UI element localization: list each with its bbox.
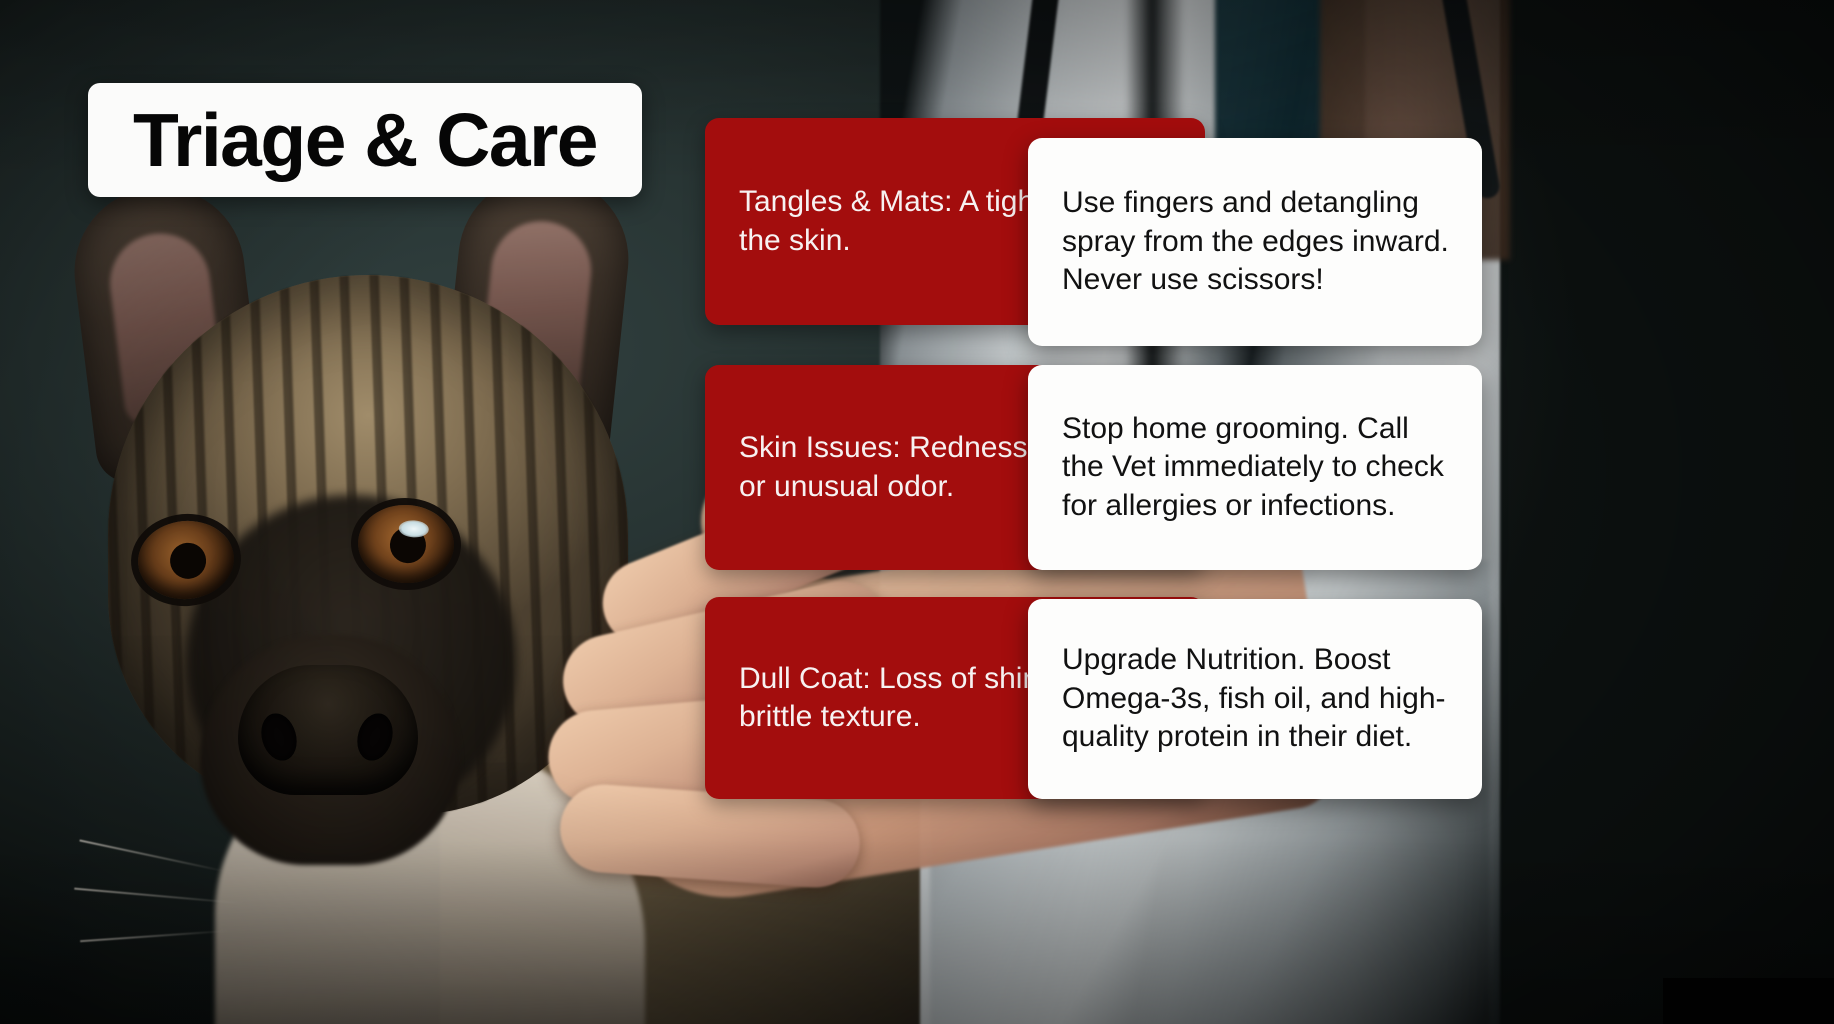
action-card[interactable]: Stop home grooming. Call the Vet immedia… — [1028, 365, 1482, 570]
action-card[interactable]: Upgrade Nutrition. Boost Omega-3s, fish … — [1028, 599, 1482, 799]
action-text: Upgrade Nutrition. Boost Omega-3s, fish … — [1028, 641, 1482, 756]
action-text: Use fingers and detangling spray from th… — [1028, 184, 1482, 299]
action-card[interactable]: Use fingers and detangling spray from th… — [1028, 138, 1482, 346]
triage-rows: Tangles & Mats: A tight mat near the ski… — [0, 0, 1834, 1024]
action-text: Stop home grooming. Call the Vet immedia… — [1028, 410, 1482, 525]
slide-canvas: Triage & Care Tangles & Mats: A tight ma… — [0, 0, 1834, 1024]
bottom-right-black-block — [1663, 978, 1834, 1024]
